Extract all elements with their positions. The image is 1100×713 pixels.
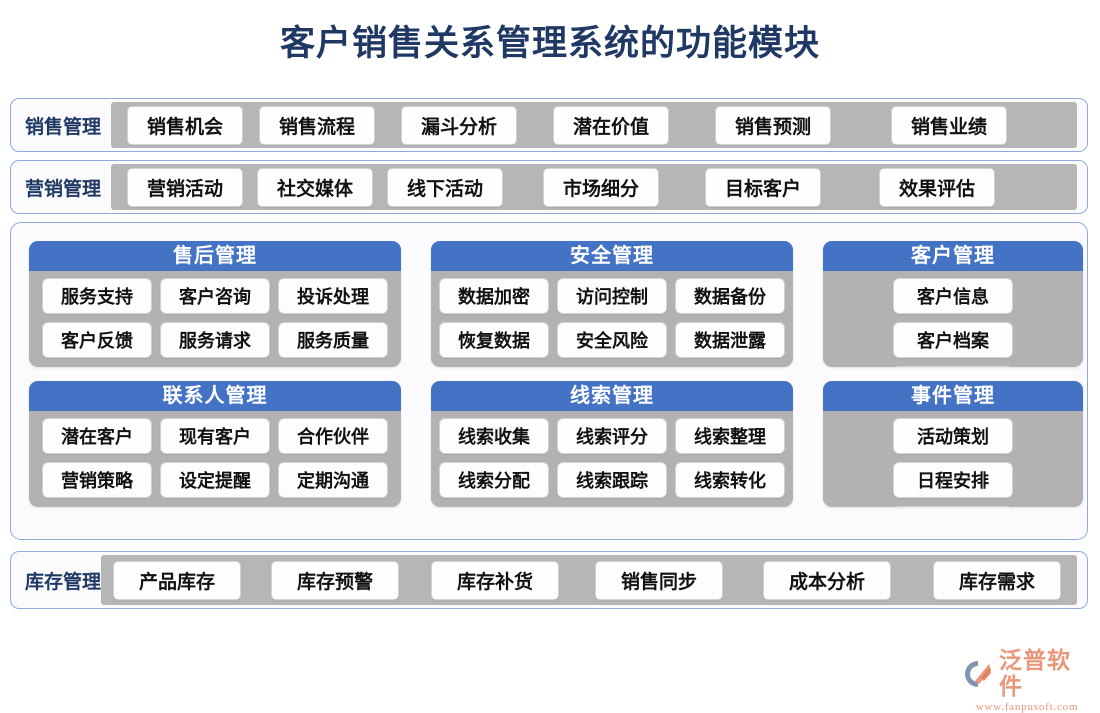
band-item-marketing-5[interactable]: 效果评估 xyxy=(879,168,995,207)
modules-panel: 泛普软件 售后管理 服务支持 客户咨询 投诉处理 客户反馈 服务请求 服务质量 … xyxy=(10,222,1088,540)
module-card-title: 售后管理 xyxy=(29,241,401,271)
band-item-inventory-4[interactable]: 成本分析 xyxy=(763,561,891,600)
module-card-items: 活动策划 日程安排 活动评估 活动分析 xyxy=(823,411,1083,507)
band-item-marketing-1[interactable]: 社交媒体 xyxy=(257,168,373,207)
module-item[interactable]: 拜访记录 xyxy=(893,366,1013,367)
module-card-security: 安全管理 数据加密 访问控制 数据备份 恢复数据 安全风险 数据泄露 xyxy=(431,241,793,367)
module-card-title: 客户管理 xyxy=(823,241,1083,271)
module-card-title: 线索管理 xyxy=(431,381,793,411)
module-card-leads: 线索管理 线索收集 线索评分 线索整理 线索分配 线索跟踪 线索转化 xyxy=(431,381,793,507)
band-item-sales-0[interactable]: 销售机会 xyxy=(127,106,243,145)
module-card-title: 事件管理 xyxy=(823,381,1083,411)
module-card-events: 事件管理 活动策划 日程安排 活动评估 活动分析 xyxy=(823,381,1083,507)
band-inventory-management: 库存管理 产品库存 库存预警 库存补货 销售同步 成本分析 库存需求 xyxy=(10,551,1088,609)
module-item[interactable]: 活动策划 xyxy=(893,418,1013,454)
module-card-grid: 售后管理 服务支持 客户咨询 投诉处理 客户反馈 服务请求 服务质量 安全管理 … xyxy=(11,223,1088,540)
module-item[interactable]: 安全风险 xyxy=(557,322,667,358)
module-item[interactable]: 线索转化 xyxy=(675,462,785,498)
band-label-marketing: 营销管理 xyxy=(11,174,109,201)
module-card-items: 线索收集 线索评分 线索整理 线索分配 线索跟踪 线索转化 xyxy=(431,411,793,506)
module-item[interactable]: 线索评分 xyxy=(557,418,667,454)
band-label-inventory: 库存管理 xyxy=(11,567,101,594)
module-item[interactable]: 客户反馈 xyxy=(42,322,152,358)
module-item[interactable]: 设定提醒 xyxy=(160,462,270,498)
module-item[interactable]: 服务请求 xyxy=(160,322,270,358)
module-item[interactable]: 潜在客户 xyxy=(42,418,152,454)
band-item-inventory-3[interactable]: 销售同步 xyxy=(595,561,723,600)
page-title: 客户销售关系管理系统的功能模块 xyxy=(0,20,1100,68)
fanpu-logo-icon xyxy=(962,659,996,689)
module-item[interactable]: 数据备份 xyxy=(675,278,785,314)
band-item-sales-2[interactable]: 漏斗分析 xyxy=(401,106,517,145)
band-strip-sales: 销售机会 销售流程 漏斗分析 潜在价值 销售预测 销售业绩 xyxy=(111,102,1077,148)
band-item-marketing-0[interactable]: 营销活动 xyxy=(127,168,243,207)
band-item-inventory-2[interactable]: 库存补货 xyxy=(431,561,559,600)
module-item[interactable]: 服务支持 xyxy=(42,278,152,314)
module-card-customer: 客户管理 客户信息 客户档案 拜访记录 客户信用 xyxy=(823,241,1083,367)
module-item[interactable]: 线索分配 xyxy=(439,462,549,498)
module-item[interactable]: 日程安排 xyxy=(893,462,1013,498)
module-item[interactable]: 线索收集 xyxy=(439,418,549,454)
module-item[interactable]: 投诉处理 xyxy=(278,278,388,314)
band-item-inventory-0[interactable]: 产品库存 xyxy=(113,561,241,600)
band-strip-marketing: 营销活动 社交媒体 线下活动 市场细分 目标客户 效果评估 xyxy=(111,164,1077,210)
brand-logo: 泛普软件 www.fanpusoft.com xyxy=(962,648,1092,694)
module-card-title: 联系人管理 xyxy=(29,381,401,411)
module-item[interactable]: 合作伙伴 xyxy=(278,418,388,454)
band-marketing-management: 营销管理 营销活动 社交媒体 线下活动 市场细分 目标客户 效果评估 xyxy=(10,160,1088,214)
band-item-marketing-2[interactable]: 线下活动 xyxy=(387,168,503,207)
logo-wordmark: 泛普软件 xyxy=(999,648,1092,700)
module-item[interactable]: 线索整理 xyxy=(675,418,785,454)
module-item[interactable]: 恢复数据 xyxy=(439,322,549,358)
module-card-items: 数据加密 访问控制 数据备份 恢复数据 安全风险 数据泄露 xyxy=(431,271,793,366)
module-item[interactable]: 客户咨询 xyxy=(160,278,270,314)
module-card-title: 安全管理 xyxy=(431,241,793,271)
module-item[interactable]: 营销策略 xyxy=(42,462,152,498)
module-card-items: 服务支持 客户咨询 投诉处理 客户反馈 服务请求 服务质量 xyxy=(29,271,401,366)
band-item-sales-3[interactable]: 潜在价值 xyxy=(553,106,669,145)
module-item[interactable]: 定期沟通 xyxy=(278,462,388,498)
module-item[interactable]: 活动评估 xyxy=(893,506,1013,507)
module-item[interactable]: 客户档案 xyxy=(893,322,1013,358)
module-card-items: 客户信息 客户档案 拜访记录 客户信用 xyxy=(823,271,1083,367)
module-item[interactable]: 服务质量 xyxy=(278,322,388,358)
module-item[interactable]: 数据泄露 xyxy=(675,322,785,358)
band-item-sales-4[interactable]: 销售预测 xyxy=(715,106,831,145)
module-item[interactable]: 数据加密 xyxy=(439,278,549,314)
module-card-contacts: 联系人管理 潜在客户 现有客户 合作伙伴 营销策略 设定提醒 定期沟通 xyxy=(29,381,401,507)
band-sales-management: 销售管理 销售机会 销售流程 漏斗分析 潜在价值 销售预测 销售业绩 xyxy=(10,98,1088,152)
band-item-marketing-3[interactable]: 市场细分 xyxy=(543,168,659,207)
band-item-sales-1[interactable]: 销售流程 xyxy=(259,106,375,145)
module-item[interactable]: 线索跟踪 xyxy=(557,462,667,498)
module-item[interactable]: 客户信息 xyxy=(893,278,1013,314)
module-item[interactable]: 现有客户 xyxy=(160,418,270,454)
module-card-aftersales: 售后管理 服务支持 客户咨询 投诉处理 客户反馈 服务请求 服务质量 xyxy=(29,241,401,367)
band-label-sales: 销售管理 xyxy=(11,112,109,139)
module-item[interactable]: 访问控制 xyxy=(557,278,667,314)
logo-url: www.fanpusoft.com xyxy=(962,701,1092,713)
band-item-inventory-1[interactable]: 库存预警 xyxy=(271,561,399,600)
band-item-marketing-4[interactable]: 目标客户 xyxy=(705,168,821,207)
band-strip-inventory: 产品库存 库存预警 库存补货 销售同步 成本分析 库存需求 xyxy=(101,555,1077,605)
logo-row: 泛普软件 xyxy=(962,648,1092,700)
module-card-items: 潜在客户 现有客户 合作伙伴 营销策略 设定提醒 定期沟通 xyxy=(29,411,401,506)
band-item-inventory-5[interactable]: 库存需求 xyxy=(933,561,1061,600)
band-item-sales-5[interactable]: 销售业绩 xyxy=(891,106,1007,145)
